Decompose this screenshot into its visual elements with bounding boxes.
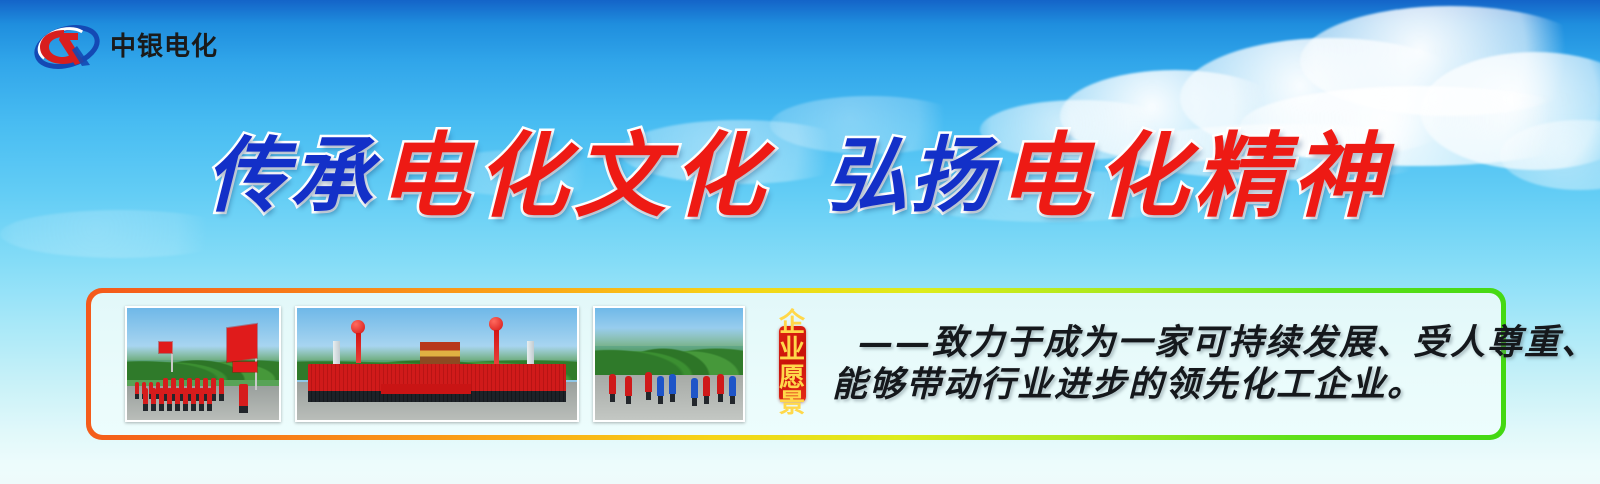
photo-group: [295, 306, 579, 422]
headline-segment-1: 传承: [206, 135, 374, 217]
vision-slogan-line-2: 能够带动行业进步的领先化工企业。: [832, 367, 1598, 403]
player-blue: [657, 376, 664, 396]
balloon-streamer: [356, 333, 361, 363]
vision-panel-inner: 企业 愿景 ——致力于成为一家可持续发展、受人尊重、 能够带动行业进步的领先化工…: [91, 293, 1501, 435]
brand-logo-block: 中银电化: [34, 20, 218, 74]
photo-sports: [593, 306, 745, 422]
vision-panel: 企业 愿景 ——致力于成为一家可持续发展、受人尊重、 能够带动行业进步的领先化工…: [86, 288, 1506, 440]
player-red: [625, 376, 632, 396]
headline-segment-4: 电化精神: [998, 130, 1390, 222]
player-red: [717, 374, 724, 394]
headline-slogan: 传承 电化文化 弘扬 电化精神: [0, 118, 1600, 234]
ceremonial-gate: [420, 342, 460, 366]
cloud-shape: [1300, 6, 1600, 116]
headline-segment-2: 电化文化: [378, 130, 770, 222]
seal-line-1: 企业: [779, 310, 806, 363]
player-red: [703, 376, 710, 396]
balloon-streamer: [494, 330, 499, 364]
red-balloon: [351, 320, 365, 334]
brand-name: 中银电化: [110, 34, 218, 60]
photo-strip: [125, 306, 745, 422]
red-flag: [227, 324, 257, 362]
photo-parade: [125, 306, 281, 422]
crowd-row: [143, 388, 212, 404]
red-flag: [159, 342, 172, 353]
seal-line-2: 愿景: [779, 365, 806, 418]
crowd-row: [239, 384, 248, 406]
headline-segment-3: 弘扬: [826, 135, 994, 217]
red-balloon: [489, 317, 503, 331]
player-blue: [669, 374, 676, 394]
company-culture-banner: 中银电化 传承 电化文化 弘扬 电化精神: [0, 0, 1600, 484]
red-flag: [233, 362, 257, 372]
vision-slogan: ——致力于成为一家可持续发展、受人尊重、 能够带动行业进步的领先化工企业。: [832, 325, 1598, 404]
vision-seal-stamp: 企业 愿景: [779, 326, 806, 402]
player-blue: [691, 378, 698, 398]
player-blue: [729, 376, 736, 396]
vision-slogan-line-1: ——致力于成为一家可持续发展、受人尊重、: [832, 325, 1598, 361]
zhongyin-swoosh-logo-icon: [34, 21, 100, 73]
player-red: [609, 374, 616, 394]
group-photo-banner: [381, 384, 471, 394]
player-red: [645, 372, 652, 392]
photo-trees: [595, 328, 743, 377]
